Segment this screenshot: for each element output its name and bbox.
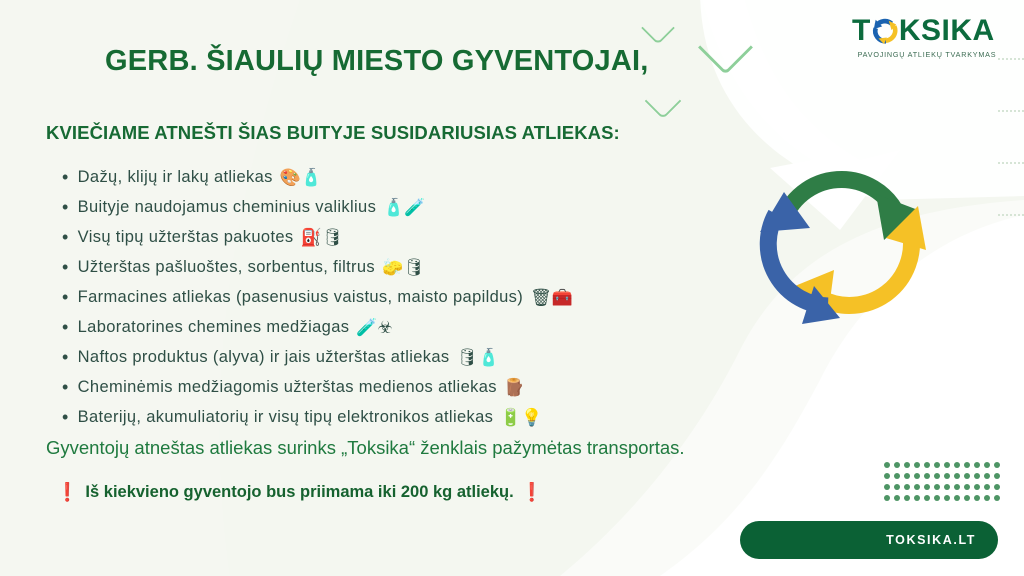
list-item-label: Buityje naudojamus cheminius valiklius — [78, 198, 377, 217]
page-title: GERB. ŠIAULIŲ MIESTO GYVENTOJAI, — [105, 45, 649, 78]
list-item: • Dažų, klijų ir lakų atliekas 🎨🧴 — [62, 162, 892, 192]
list-item: • Baterijų, akumuliatorių ir visų tipų e… — [62, 402, 892, 432]
list-item: • Užterštas pašluoštes, sorbentus, filtr… — [62, 252, 892, 282]
waste-types-list: • Dažų, klijų ir lakų atliekas 🎨🧴 • Buit… — [62, 162, 892, 432]
list-item-label: Užterštas pašluoštes, sorbentus, filtrus — [78, 258, 375, 277]
bullet-dot-icon: • — [62, 168, 69, 186]
page-subtitle: KVIEČIAME ATNEŠTI ŠIAS BUITYJE SUSIDARIU… — [46, 122, 620, 144]
list-item-label: Dažų, klijų ir lakų atliekas — [78, 168, 273, 187]
paint-bucket-icon: 🎨🧴 — [280, 169, 322, 186]
lab-bottle-icon: 🧪☣ — [356, 319, 392, 336]
trash-bin-icon: 🗑🧰 — [530, 289, 573, 306]
car-battery-icon: 🔋💡 — [500, 409, 542, 426]
bullet-dot-icon: • — [62, 258, 69, 276]
bullet-dot-icon: • — [62, 288, 69, 306]
bullet-dot-icon: • — [62, 228, 69, 246]
weight-limit-notice: ❗ Iš kiekvieno gyventojo bus priimama ik… — [56, 482, 543, 503]
list-item: • Laboratorines chemines medžiagas 🧪☣ — [62, 312, 892, 342]
website-cta-label: TOKSIKA.LT — [886, 533, 976, 547]
jerrycan-icon: ⛽🛢 — [301, 229, 344, 246]
list-item-label: Visų tipų užterštas pakuotes — [78, 228, 294, 247]
bullet-dot-icon: • — [62, 318, 69, 336]
oil-barrel-icon: 🛢🧴 — [456, 349, 499, 366]
list-item: • Farmacines atliekas (pasenusius vaistu… — [62, 282, 892, 312]
exclamation-icon-right: ❗ — [521, 482, 543, 503]
bullet-dot-icon: • — [62, 408, 69, 426]
list-item: • Cheminėmis medžiagomis užterštas medie… — [62, 372, 892, 402]
list-item-label: Farmacines atliekas (pasenusius vaistus,… — [78, 288, 523, 307]
wood-logs-icon: 🪵 — [504, 379, 525, 396]
list-item: • Visų tipų užterštas pakuotes ⛽🛢 — [62, 222, 892, 252]
transport-note: Gyventojų atneštas atliekas surinks „Tok… — [46, 437, 685, 459]
exclamation-icon-left: ❗ — [56, 482, 78, 503]
weight-limit-text: Iš kiekvieno gyventojo bus priimama iki … — [85, 483, 513, 502]
bullet-dot-icon: • — [62, 378, 69, 396]
list-item: • Naftos produktus (alyva) ir jais užter… — [62, 342, 892, 372]
list-item-label: Laboratorines chemines medžiagas — [78, 318, 350, 337]
list-item: • Buityje naudojamus cheminius valiklius… — [62, 192, 892, 222]
rag-filter-icon: 🧽🛢 — [382, 259, 425, 276]
website-cta-button[interactable]: TOKSIKA.LT — [740, 521, 998, 559]
list-item-label: Baterijų, akumuliatorių ir visų tipų ele… — [78, 408, 494, 427]
list-item-label: Cheminėmis medžiagomis užterštas medieno… — [78, 378, 497, 397]
list-item-label: Naftos produktus (alyva) ir jais užteršt… — [78, 348, 450, 367]
bullet-dot-icon: • — [62, 198, 69, 216]
bullet-dot-icon: • — [62, 348, 69, 366]
slide-content: GERB. ŠIAULIŲ MIESTO GYVENTOJAI, KVIEČIA… — [0, 0, 1024, 576]
slide-canvas: TKSIKA PAVOJINGŲ ATLIEKŲ TVARKYMAS GERB.… — [0, 0, 1024, 576]
detergent-jug-icon: 🧴🧪 — [383, 199, 425, 216]
